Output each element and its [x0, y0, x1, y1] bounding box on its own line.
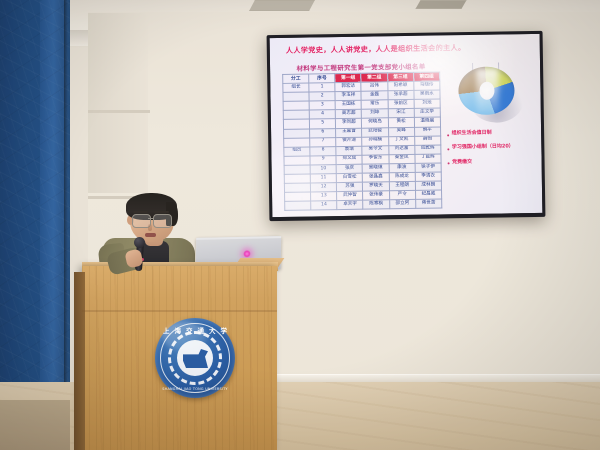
cell-role: 组长	[283, 83, 309, 93]
presentation-slide: 人人学党史，人人讲党史，人人是组织生活会的主人。 材料学与工程研究生第一党支部党…	[270, 34, 543, 217]
cell-name: 张伟豪	[363, 191, 389, 201]
cell-index: 1	[309, 83, 335, 93]
speaker-eyebrow	[133, 211, 148, 213]
wall-display[interactable]: 人人学党史，人人讲党史，人人是组织生活会的主人。 材料学与工程研究生第一党支部党…	[267, 31, 546, 221]
list-item: 学习强国小组制（日均20）	[447, 144, 527, 151]
cell-name: 温晓晨	[414, 117, 440, 127]
cell-index: 5	[310, 119, 336, 129]
ceiling-vent	[249, 0, 315, 11]
cell-name: 严令	[389, 191, 415, 201]
cell-name: 李俊东	[362, 155, 388, 165]
cell-name: 吴令文	[362, 146, 388, 156]
cell-role	[283, 110, 309, 120]
laptop-lid-edge	[196, 236, 281, 240]
emblem-english-name: SHANGHAI JIAO TONG UNIVERSITY	[155, 387, 235, 391]
col-header-index: 序号	[309, 74, 335, 84]
list-item: 党费缴交	[448, 159, 528, 166]
cell-name: 丁文凯	[388, 136, 414, 146]
bullet-dot	[447, 148, 449, 150]
bullet-dot	[448, 162, 450, 164]
photo-scene: 人人学党史，人人讲党史，人人是组织生活会的主人。 材料学与工程研究生第一党支部党…	[0, 0, 600, 450]
eyeglasses-lens	[153, 214, 172, 228]
cell-name: 刘达富	[388, 145, 414, 155]
cell-index: 2	[309, 92, 335, 102]
cell-name: 高志超	[336, 110, 362, 120]
cell-name: 陈成龙	[389, 172, 415, 182]
cell-name: 王程朗	[389, 181, 415, 191]
floor-shadow-left	[0, 400, 70, 450]
cell-role	[283, 101, 309, 111]
cell-name: 郭宏达	[335, 82, 361, 92]
cell-name: 邵立阿	[389, 200, 415, 210]
podium-seam	[82, 310, 277, 312]
cell-name: 秦金凤	[389, 154, 415, 164]
cell-name: 武阳骏	[362, 127, 388, 137]
cell-name: 李同超	[336, 119, 362, 129]
cell-name: 丁延辉	[415, 154, 441, 164]
cell-name: 蒋世苦	[415, 199, 441, 209]
speaker-eyebrow	[154, 211, 169, 213]
bullet-list: 组织生活会值日制 学习强国小组制（日均20） 党费缴交	[447, 130, 528, 174]
microphone-capsule	[134, 237, 145, 248]
cell-name: 成乾辉	[415, 145, 441, 155]
cell-name: 吴晓琪	[363, 164, 389, 174]
wall-seam	[88, 110, 150, 113]
col-header-group1: 第一组	[335, 73, 361, 83]
wall-edge-shadow	[64, 0, 68, 410]
bullet-text: 组织生活会值日制	[452, 131, 492, 137]
cell-name: 李清衣	[415, 172, 441, 182]
cell-name: 张晶鑫	[363, 173, 389, 183]
cell-name: 孙晓楠	[362, 136, 388, 146]
speaker-nose	[148, 224, 152, 231]
wall-panel	[88, 13, 148, 193]
cell-name: 成林朗	[415, 181, 441, 191]
cell-name: 吴峰	[388, 127, 414, 137]
cell-name: 陈寒枫	[363, 200, 389, 210]
cell-name: 王国栋	[335, 100, 361, 110]
list-item: 组织生活会值日制	[447, 130, 527, 137]
bullet-dot	[447, 134, 449, 136]
cell-name: 徐子伊	[415, 163, 441, 173]
speaker-mouth	[145, 233, 156, 237]
bullet-text: 党费缴交	[452, 159, 472, 165]
eyeglasses-bridge	[148, 218, 154, 219]
university-emblem: 上海交通大学 SHANGHAI JIAO TONG UNIVERSITY	[155, 318, 235, 398]
cell-name: 罗晓天	[363, 182, 389, 192]
cell-name: 常乐	[362, 100, 388, 110]
cell-name: 王嘉晋	[336, 128, 362, 138]
cell-name: 康波	[389, 163, 415, 173]
cell-role	[283, 119, 309, 129]
cell-index: 4	[309, 110, 335, 120]
laptop-logo-icon	[243, 250, 251, 258]
bullet-text: 学习强国小组制（日均20）	[452, 145, 514, 152]
cell-name: 李玉祥	[335, 91, 361, 101]
cell-name: 何晓岛	[362, 118, 388, 128]
cell-name: 黄松	[388, 118, 414, 128]
col-header-role: 分工	[283, 74, 309, 84]
cell-name: 韩平	[414, 127, 440, 137]
cell-name: 纪昌威	[415, 190, 441, 200]
ceiling-vent	[415, 0, 466, 9]
cell-index: 3	[309, 101, 335, 111]
cell-name: 薛怡	[414, 136, 440, 146]
podium-side-panel	[74, 272, 85, 450]
cell-role	[283, 92, 309, 102]
emblem-highlight	[163, 322, 207, 352]
display-screen: 人人学党史，人人讲党史，人人是组织生活会的主人。 材料学与工程研究生第一党支部党…	[270, 34, 543, 217]
cell-name: 刘坤	[362, 109, 388, 119]
